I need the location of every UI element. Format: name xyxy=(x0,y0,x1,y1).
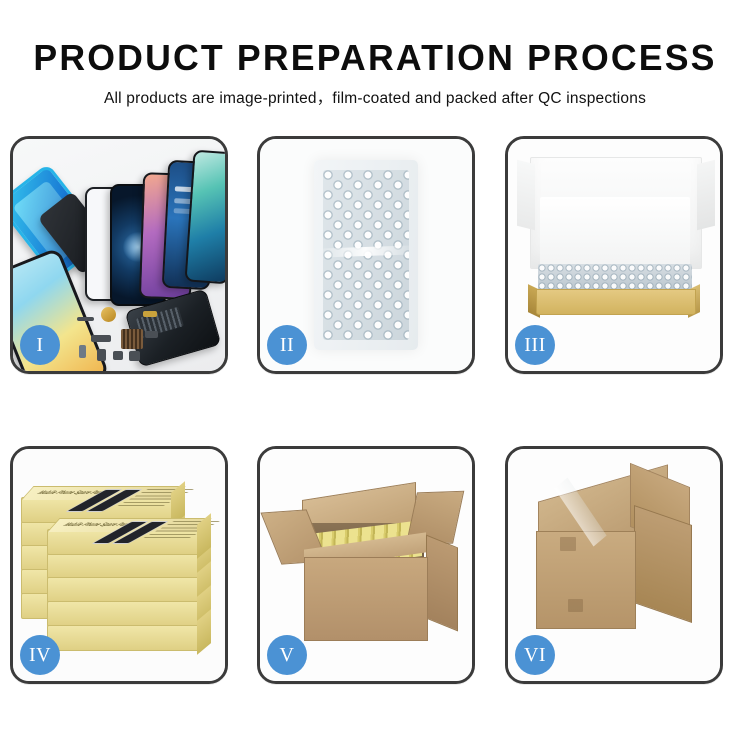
carton-scuff-mark xyxy=(568,599,583,612)
flex-cable-icon xyxy=(91,335,111,342)
mailer-front-panel xyxy=(536,289,696,315)
camera-module-icon xyxy=(113,351,123,360)
step-panel-2: II xyxy=(257,136,475,374)
header: PRODUCT PREPARATION PROCESS All products… xyxy=(0,0,750,109)
retail-box-lid: Mobile Phone Spare Parts xyxy=(21,486,186,500)
button-part-icon xyxy=(129,351,140,361)
retail-box xyxy=(47,601,199,627)
foam-sheet xyxy=(540,197,690,269)
power-flex-icon xyxy=(143,311,157,317)
connector-board-icon xyxy=(121,329,143,349)
retail-box-lid: Mobile Phone Spare Parts xyxy=(47,518,212,532)
carton-side-face xyxy=(426,535,458,632)
bubble-texture xyxy=(323,170,409,340)
step-badge-1: I xyxy=(20,325,60,365)
sim-tray-icon xyxy=(97,349,106,361)
carton-front-face xyxy=(536,531,636,629)
vibration-motor-icon xyxy=(101,307,116,322)
bubble-wrap-sachet xyxy=(314,160,418,350)
volume-flex-icon xyxy=(145,331,158,338)
step-badge-2: II xyxy=(267,325,307,365)
page-title: PRODUCT PREPARATION PROCESS xyxy=(4,38,747,78)
page-subtitle: All products are image-printed，film-coat… xyxy=(0,89,750,109)
step-badge-5: V xyxy=(267,635,307,675)
bubble-wrapped-contents xyxy=(538,264,692,292)
steps-grid: I II III xyxy=(10,136,740,684)
retail-box xyxy=(47,625,199,651)
speaker-mesh-icon xyxy=(77,317,94,321)
carton-side-face xyxy=(634,505,692,623)
step-panel-3: III xyxy=(505,136,723,374)
step-panel-6: VI xyxy=(505,446,723,684)
step-panel-4: Mobile Phone Spare Parts xyxy=(10,446,228,684)
step-panel-1: I xyxy=(10,136,228,374)
product-preparation-infographic: PRODUCT PREPARATION PROCESS All products… xyxy=(0,0,750,750)
retail-box xyxy=(47,577,199,603)
carton-front-face xyxy=(304,557,428,641)
step-panel-5: V xyxy=(257,446,475,684)
step-badge-3: III xyxy=(515,325,555,365)
step-badge-4: IV xyxy=(20,635,60,675)
retail-box-top-front: Mobile Phone Spare Parts xyxy=(47,529,199,555)
screw-icon xyxy=(79,345,86,358)
carton-scuff-mark xyxy=(560,537,576,551)
step-badge-6: VI xyxy=(515,635,555,675)
retail-box xyxy=(47,553,199,579)
